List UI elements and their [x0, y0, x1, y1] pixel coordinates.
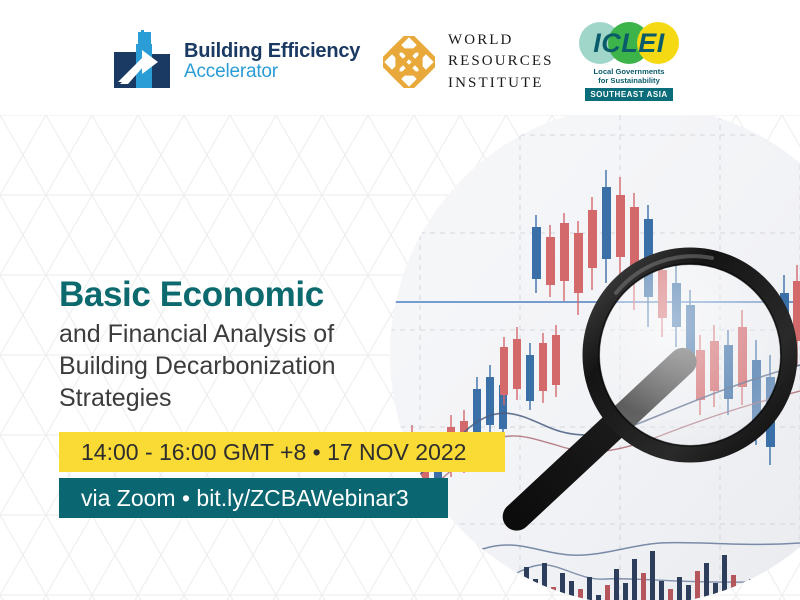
wri-knot-icon: [383, 36, 435, 88]
page-subtitle: and Financial Analysis of Building Decar…: [59, 318, 359, 414]
iclei-wordmark: ICLEI: [576, 21, 682, 65]
page-title: Basic Economic: [59, 275, 529, 315]
webinar-poster: Building Efficiency Accelerator WORLD RE…: [0, 0, 800, 600]
wri-wordmark: WORLD RESOURCES INSTITUTE: [448, 30, 554, 94]
datetime-banner: 14:00 - 16:00 GMT +8 • 17 NOV 2022: [59, 432, 505, 472]
iclei-tagline-line1: Local Governments: [576, 67, 682, 76]
iclei-mark: ICLEI: [576, 21, 682, 65]
iclei-region-badge: SOUTHEAST ASIA: [585, 88, 673, 102]
datetime-text: 14:00 - 16:00 GMT +8 • 17 NOV 2022: [59, 439, 466, 466]
bea-building-icon: [112, 30, 174, 92]
iclei-tagline-line2: for Sustainability: [576, 76, 682, 85]
logo-header: Building Efficiency Accelerator WORLD RE…: [0, 0, 800, 115]
wri-line3: INSTITUTE: [448, 73, 554, 94]
iclei-tagline: Local Governments for Sustainability: [576, 67, 682, 86]
logo-iclei: ICLEI Local Governments for Sustainabili…: [576, 21, 682, 103]
wri-line1: WORLD: [448, 30, 554, 51]
registration-link-text[interactable]: via Zoom • bit.ly/ZCBAWebinar3: [59, 485, 409, 512]
logo-world-resources-institute: WORLD RESOURCES INSTITUTE: [383, 33, 558, 91]
bea-wordmark: Building Efficiency Accelerator: [184, 41, 360, 82]
title-block: Basic Economic and Financial Analysis of…: [59, 275, 529, 414]
registration-link-banner[interactable]: via Zoom • bit.ly/ZCBAWebinar3: [59, 478, 448, 518]
bea-line2: Accelerator: [184, 62, 360, 82]
logo-building-efficiency-accelerator: Building Efficiency Accelerator: [112, 30, 352, 92]
bea-line1: Building Efficiency: [184, 41, 360, 62]
wri-line2: RESOURCES: [448, 51, 554, 72]
